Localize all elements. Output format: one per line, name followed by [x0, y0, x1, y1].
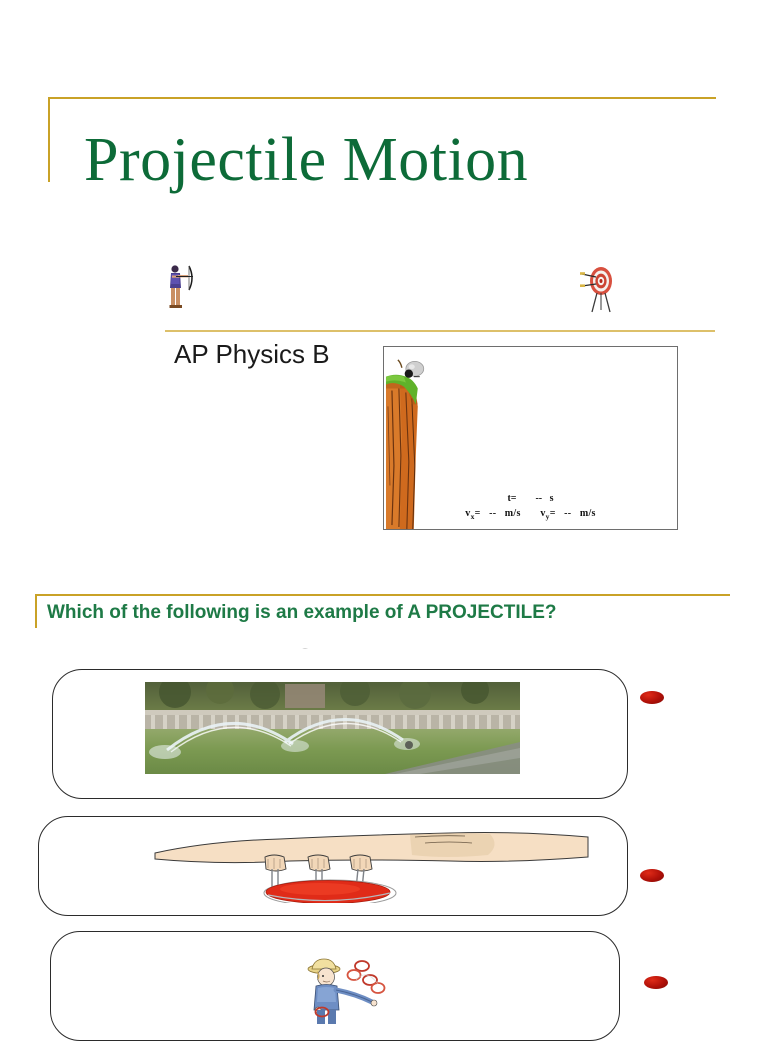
slide-deck-page: Projectile Motion [0, 0, 768, 1024]
subtitle: AP Physics B [174, 339, 330, 370]
title-bracket-vertical-rule [48, 97, 50, 182]
page-title: Projectile Motion [84, 126, 528, 194]
time-value: -- [535, 493, 542, 504]
time-label: t= [507, 493, 516, 504]
archery-target-icon [578, 262, 620, 314]
subtitle-rule [165, 330, 715, 332]
slide-1: Projectile Motion [0, 0, 768, 575]
time-unit: s [550, 493, 554, 504]
archer-icon [162, 262, 196, 314]
option-3-bullet [644, 976, 668, 989]
question-bracket-vertical-rule [35, 594, 37, 628]
vx-value: -- [489, 508, 496, 519]
projectile-readout-labels: t= -- s vx= -- m/s vy= -- [384, 491, 677, 523]
hand-illustration [150, 823, 590, 903]
vx-equals: = [475, 508, 481, 519]
question-text: Which of the following is an example of … [47, 602, 557, 624]
question-bracket-horizontal-rule [35, 594, 730, 596]
vy-value: -- [564, 508, 571, 519]
vy-unit: m/s [580, 508, 596, 519]
juggler-illustration [290, 950, 430, 1024]
vx-unit: m/s [505, 508, 521, 519]
title-bracket-horizontal-rule [48, 97, 716, 99]
option-2-bullet [640, 869, 664, 882]
clipped-heading: EXAMPLES [150, 648, 450, 670]
vy-equals: = [550, 508, 556, 519]
water-fountain-photo [145, 682, 520, 774]
option-1-bullet [640, 691, 664, 704]
projectile-animation-frame[interactable]: t= -- s vx= -- m/s vy= -- [383, 346, 678, 530]
